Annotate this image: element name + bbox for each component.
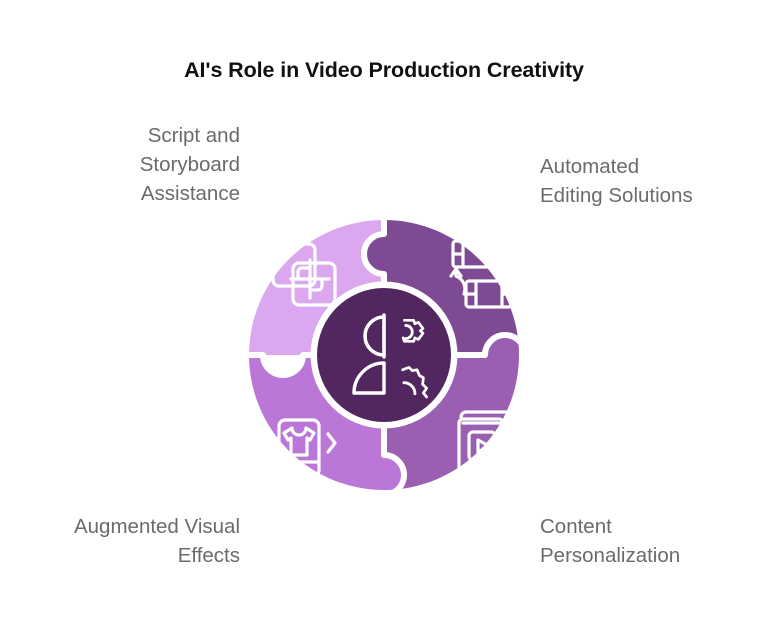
puzzle-wheel-diagram — [0, 0, 768, 633]
